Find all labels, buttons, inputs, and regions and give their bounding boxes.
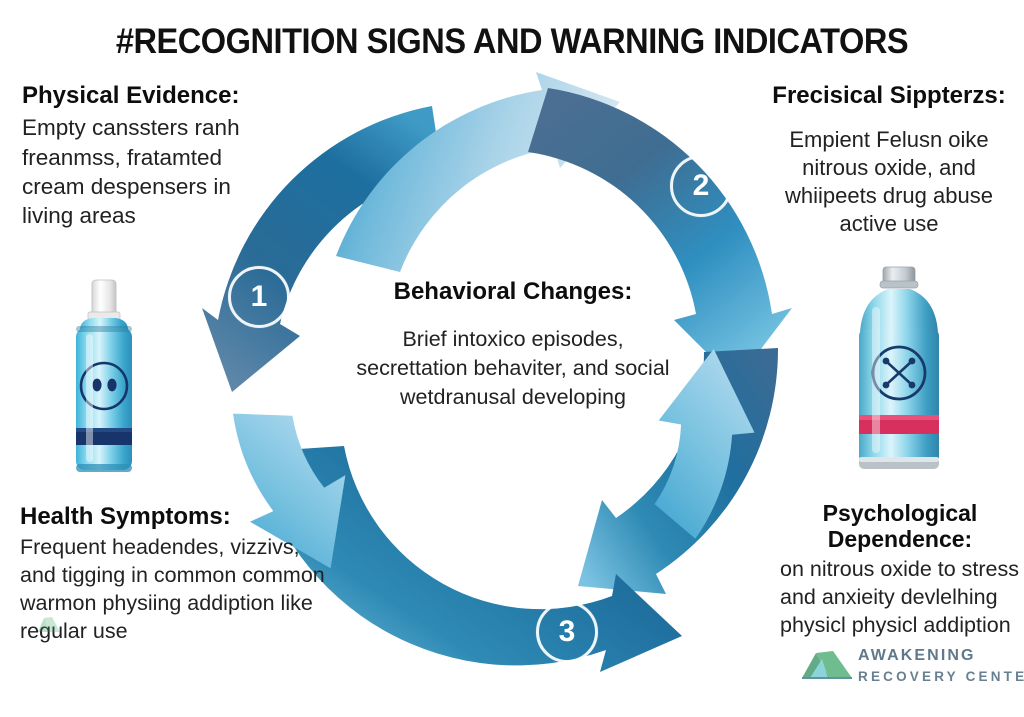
physical-evidence-body: Empty canssters ranh freanmss, fratamted… bbox=[22, 113, 272, 230]
psychological-dependence-body: on nitrous oxide to stress and anxieity … bbox=[780, 556, 1020, 640]
physical-evidence-heading: Physical Evidence: bbox=[22, 82, 272, 110]
behavioral-changes-heading: Behavioral Changes: bbox=[352, 278, 674, 306]
cycle-step-badge-1: 1 bbox=[228, 266, 290, 328]
nitrous-oxide-canister-left bbox=[62, 278, 146, 478]
badge-number: 1 bbox=[251, 282, 268, 312]
precise-symptoms-body: Empient Felusn oike nitrous oxide, and w… bbox=[760, 126, 1018, 238]
precise-symptoms-heading: Frecisical Sippterzs: bbox=[760, 82, 1018, 110]
badge-number: 2 bbox=[693, 171, 710, 201]
infographic-canvas: #RECOGNITION SIGNS AND WARNING INDICATOR… bbox=[0, 0, 1024, 717]
mountain-logo-icon bbox=[800, 647, 854, 681]
physical-evidence-block: Physical Evidence: Empty canssters ranh … bbox=[22, 82, 272, 230]
health-symptoms-body: Frequent headendes, vizzivs, and tigging… bbox=[20, 534, 338, 646]
nitrous-oxide-canister-right bbox=[850, 263, 946, 475]
behavioral-changes-block: Behavioral Changes: Brief intoxico episo… bbox=[352, 278, 674, 411]
brand-name: AWAKENING bbox=[858, 647, 976, 665]
health-symptoms-heading: Health Symptoms: bbox=[20, 503, 338, 531]
psychological-dependence-block: Psychological Dependence: on nitrous oxi… bbox=[780, 500, 1020, 640]
artifact-speck-icon bbox=[36, 614, 62, 636]
badge-number: 3 bbox=[559, 617, 576, 647]
brand-subtitle: RECOVERY CENTER bbox=[858, 669, 1024, 684]
behavioral-changes-body: Brief intoxico episodes, secrettation be… bbox=[352, 325, 674, 411]
precise-symptoms-block: Frecisical Sippterzs: Empient Felusn oik… bbox=[760, 82, 1018, 238]
page-title: #RECOGNITION SIGNS AND WARNING INDICATOR… bbox=[36, 22, 988, 62]
brand-watermark: AWAKENING RECOVERY CENTER bbox=[800, 645, 1018, 693]
health-symptoms-block: Health Symptoms: Frequent headendes, viz… bbox=[20, 503, 338, 646]
psychological-dependence-heading: Psychological Dependence: bbox=[780, 500, 1020, 553]
cycle-step-badge-2: 2 bbox=[670, 155, 732, 217]
cycle-step-badge-3: 3 bbox=[536, 601, 598, 663]
